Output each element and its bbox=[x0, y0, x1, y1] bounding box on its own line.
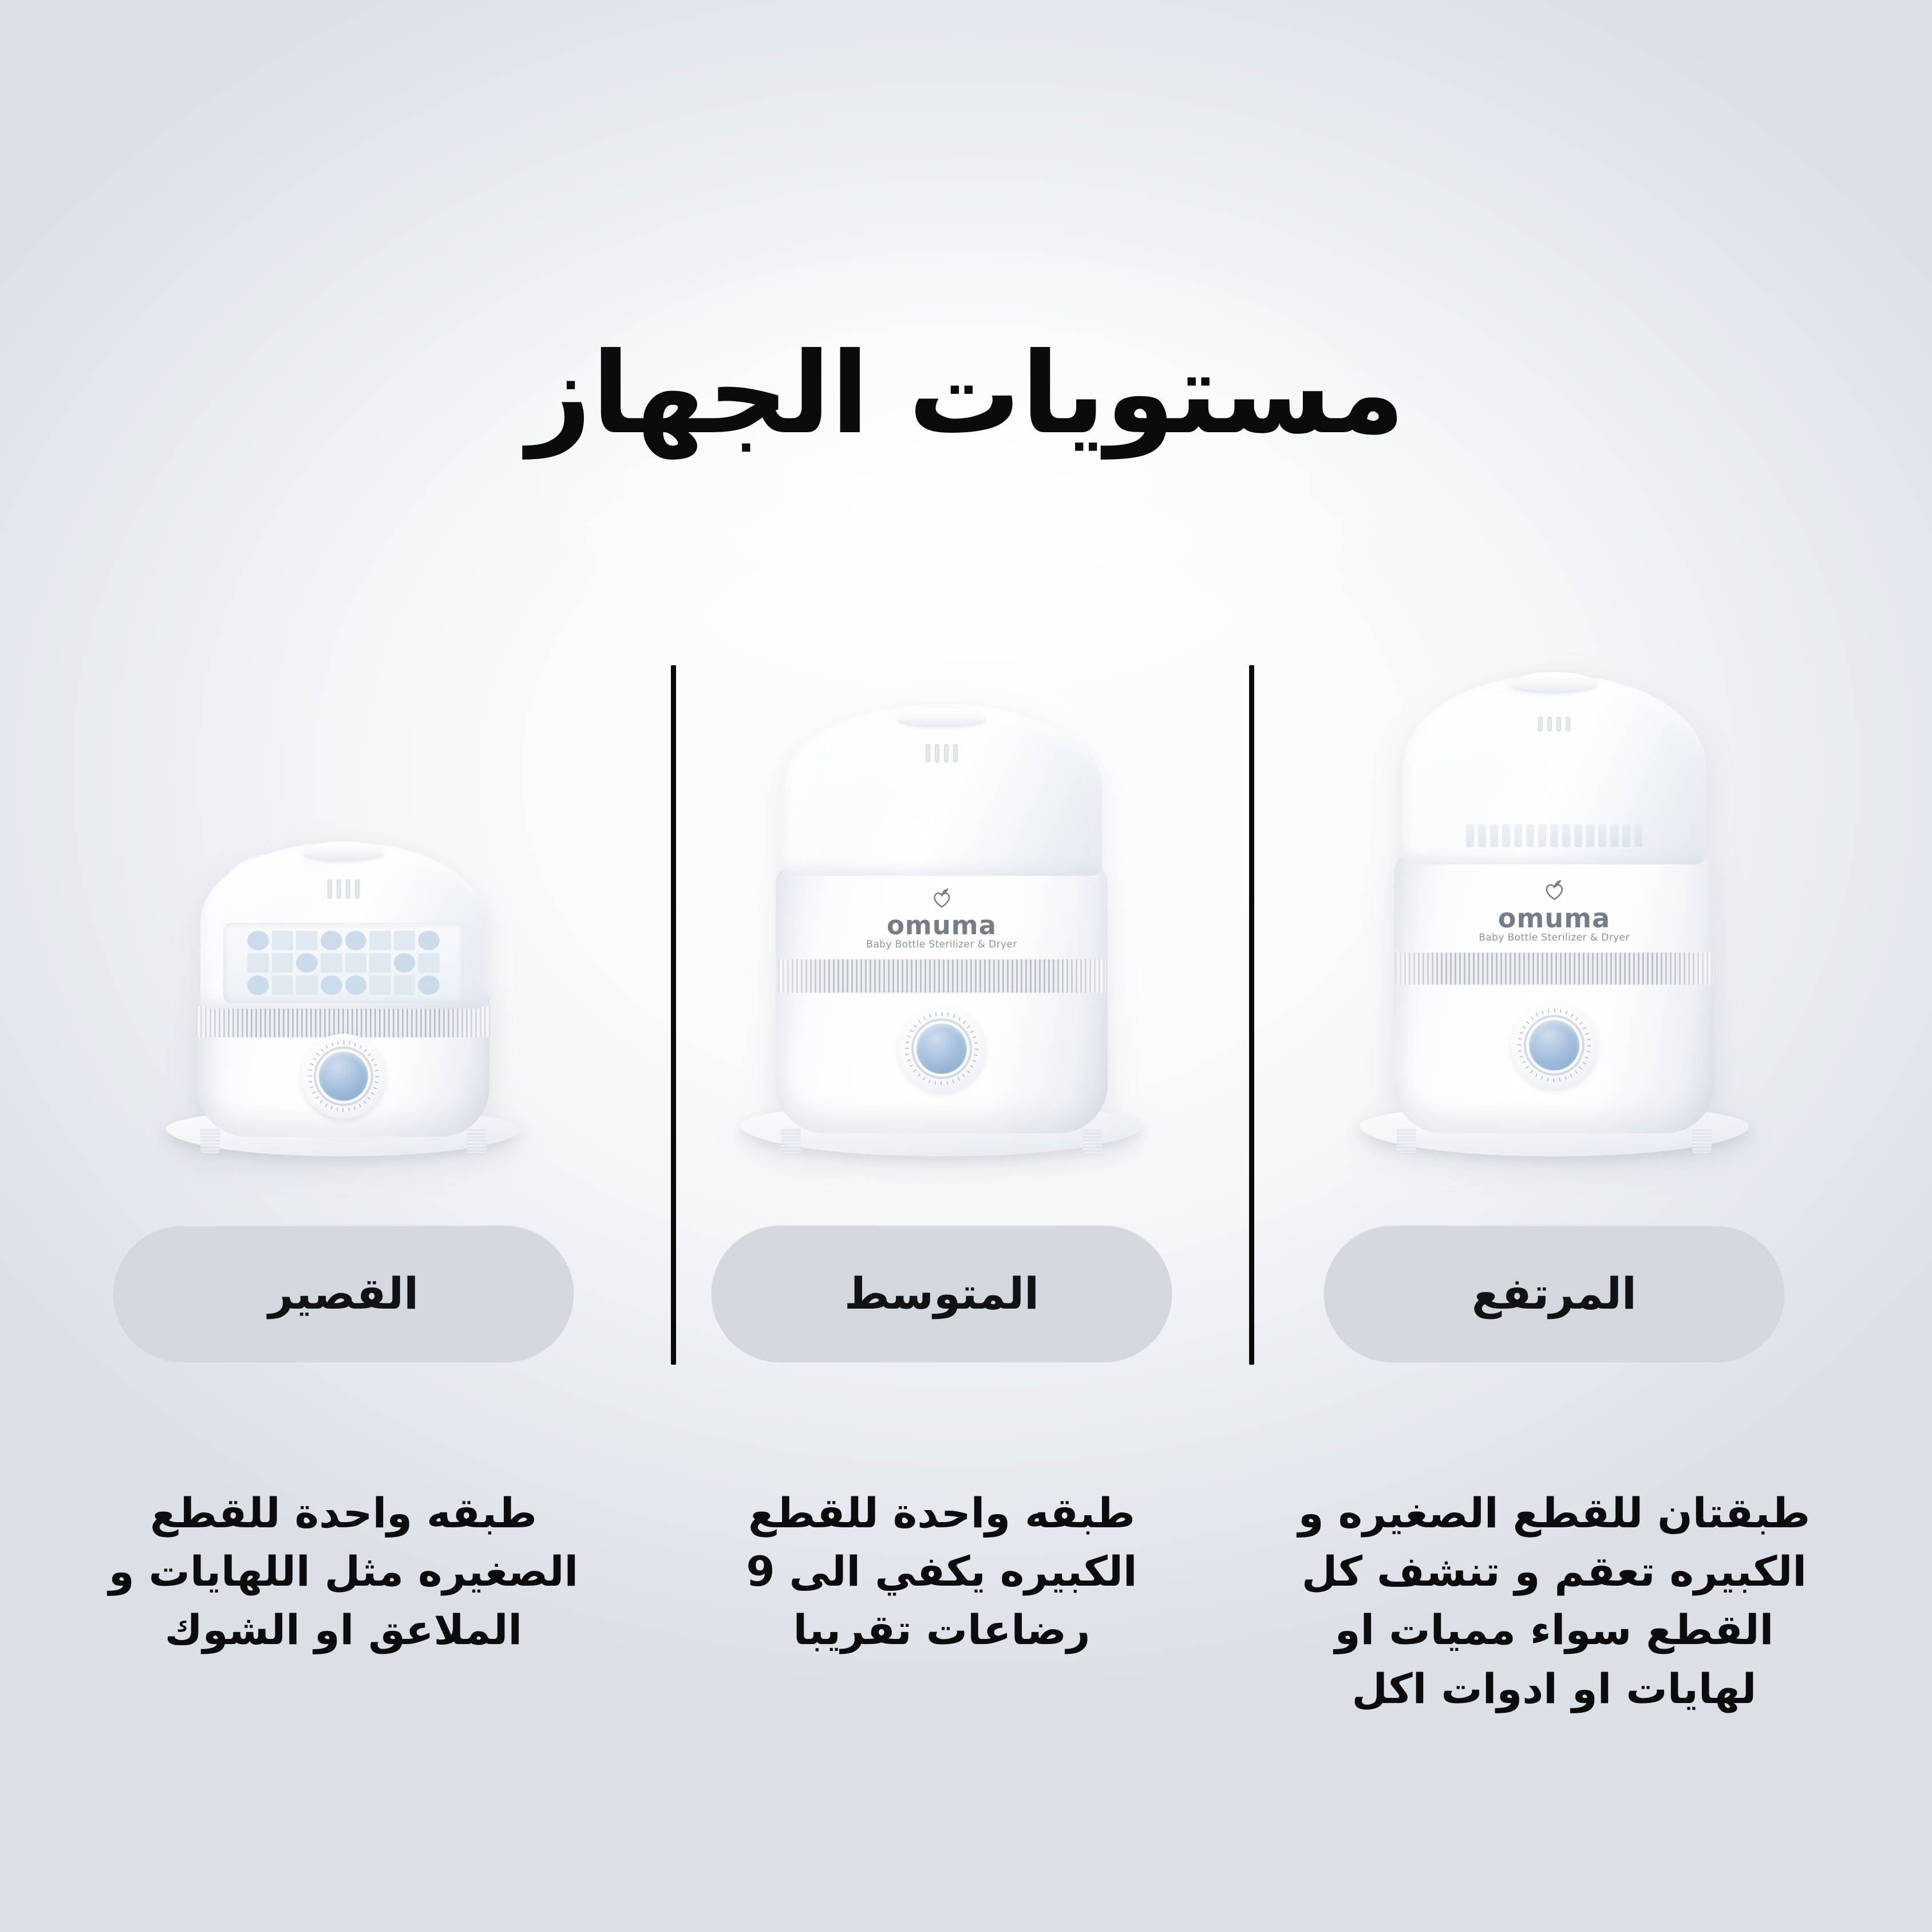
level-pill-medium[interactable]: المتوسط bbox=[712, 1225, 1172, 1362]
column-medium: omuma Baby Bottle Sterilizer & Dryer الم… bbox=[638, 0, 1245, 1932]
product-stage-medium: omuma Baby Bottle Sterilizer & Dryer bbox=[638, 572, 1245, 1156]
brand-tagline: Baby Bottle Sterilizer & Dryer bbox=[866, 939, 1017, 950]
level-pill-label: المتوسط bbox=[844, 1272, 1039, 1315]
brand-logo: omuma Baby Bottle Sterilizer & Dryer bbox=[866, 886, 1017, 950]
control-dial[interactable] bbox=[1511, 1002, 1598, 1089]
level-pill-tall[interactable]: المرتفع bbox=[1324, 1225, 1785, 1362]
control-dial[interactable] bbox=[898, 1005, 985, 1092]
level-pill-label: القصير bbox=[268, 1272, 418, 1315]
brand-name: omuma bbox=[1479, 904, 1629, 933]
upper-rack bbox=[1466, 824, 1642, 847]
column-tall: omuma Baby Bottle Sterilizer & Dryer bbox=[1251, 0, 1858, 1932]
control-dial[interactable] bbox=[301, 1034, 386, 1119]
lid-knob[interactable] bbox=[899, 708, 985, 726]
lid-vents bbox=[1538, 717, 1570, 732]
omuma-heart-icon bbox=[1542, 878, 1567, 903]
lid-vents bbox=[327, 879, 359, 899]
brand-name: omuma bbox=[866, 911, 1017, 940]
foot-left bbox=[200, 1128, 220, 1153]
brand-logo: omuma Baby Bottle Sterilizer & Dryer bbox=[1479, 878, 1629, 943]
column-short: القصير طبقه واحدة للقطع الصغيره مثل الله… bbox=[40, 0, 647, 1932]
device-band bbox=[196, 1006, 491, 1037]
device-lid bbox=[781, 704, 1102, 876]
device-band bbox=[1395, 953, 1713, 985]
foot-right bbox=[1082, 1128, 1102, 1153]
dial-knob[interactable] bbox=[1529, 1020, 1579, 1070]
product-stage-short bbox=[40, 572, 647, 1156]
level-description-medium: طبقه واحدة للقطع الكبيره يكفي الى 9 رضاع… bbox=[673, 1484, 1211, 1660]
product-image-tall: omuma Baby Bottle Sterilizer & Dryer bbox=[1354, 590, 1755, 1156]
omuma-heart-icon bbox=[930, 886, 954, 910]
product-image-medium: omuma Baby Bottle Sterilizer & Dryer bbox=[741, 658, 1142, 1156]
lid-vents bbox=[926, 744, 958, 762]
foot-right bbox=[467, 1128, 487, 1153]
tray-holes bbox=[247, 931, 440, 995]
poster-canvas: مستويات الجهاز omuma Baby Bo bbox=[0, 0, 1932, 1932]
lid-highlight bbox=[223, 853, 338, 922]
foot-right bbox=[1692, 1128, 1712, 1153]
device-band bbox=[778, 959, 1105, 993]
lid-knob[interactable] bbox=[1511, 672, 1597, 692]
lid-knob[interactable] bbox=[303, 841, 384, 860]
dial-knob[interactable] bbox=[319, 1052, 368, 1101]
product-stage-tall: omuma Baby Bottle Sterilizer & Dryer bbox=[1251, 572, 1858, 1156]
level-description-tall: طبقتان للقطع الصغيره و الكبيره تعقم و تن… bbox=[1285, 1484, 1823, 1718]
level-description-short: طبقه واحدة للقطع الصغيره مثل اللهايات و … bbox=[74, 1484, 613, 1660]
accessory-tray bbox=[223, 923, 464, 1003]
foot-left bbox=[1397, 1128, 1416, 1153]
level-pill-short[interactable]: القصير bbox=[113, 1225, 574, 1362]
level-pill-label: المرتفع bbox=[1472, 1272, 1637, 1315]
dial-knob[interactable] bbox=[916, 1024, 967, 1074]
foot-left bbox=[781, 1128, 801, 1153]
product-image-short bbox=[160, 813, 527, 1156]
page-title: مستويات الجهاز bbox=[0, 335, 1932, 453]
brand-tagline: Baby Bottle Sterilizer & Dryer bbox=[1479, 933, 1629, 943]
lid-highlight bbox=[1428, 693, 1571, 779]
